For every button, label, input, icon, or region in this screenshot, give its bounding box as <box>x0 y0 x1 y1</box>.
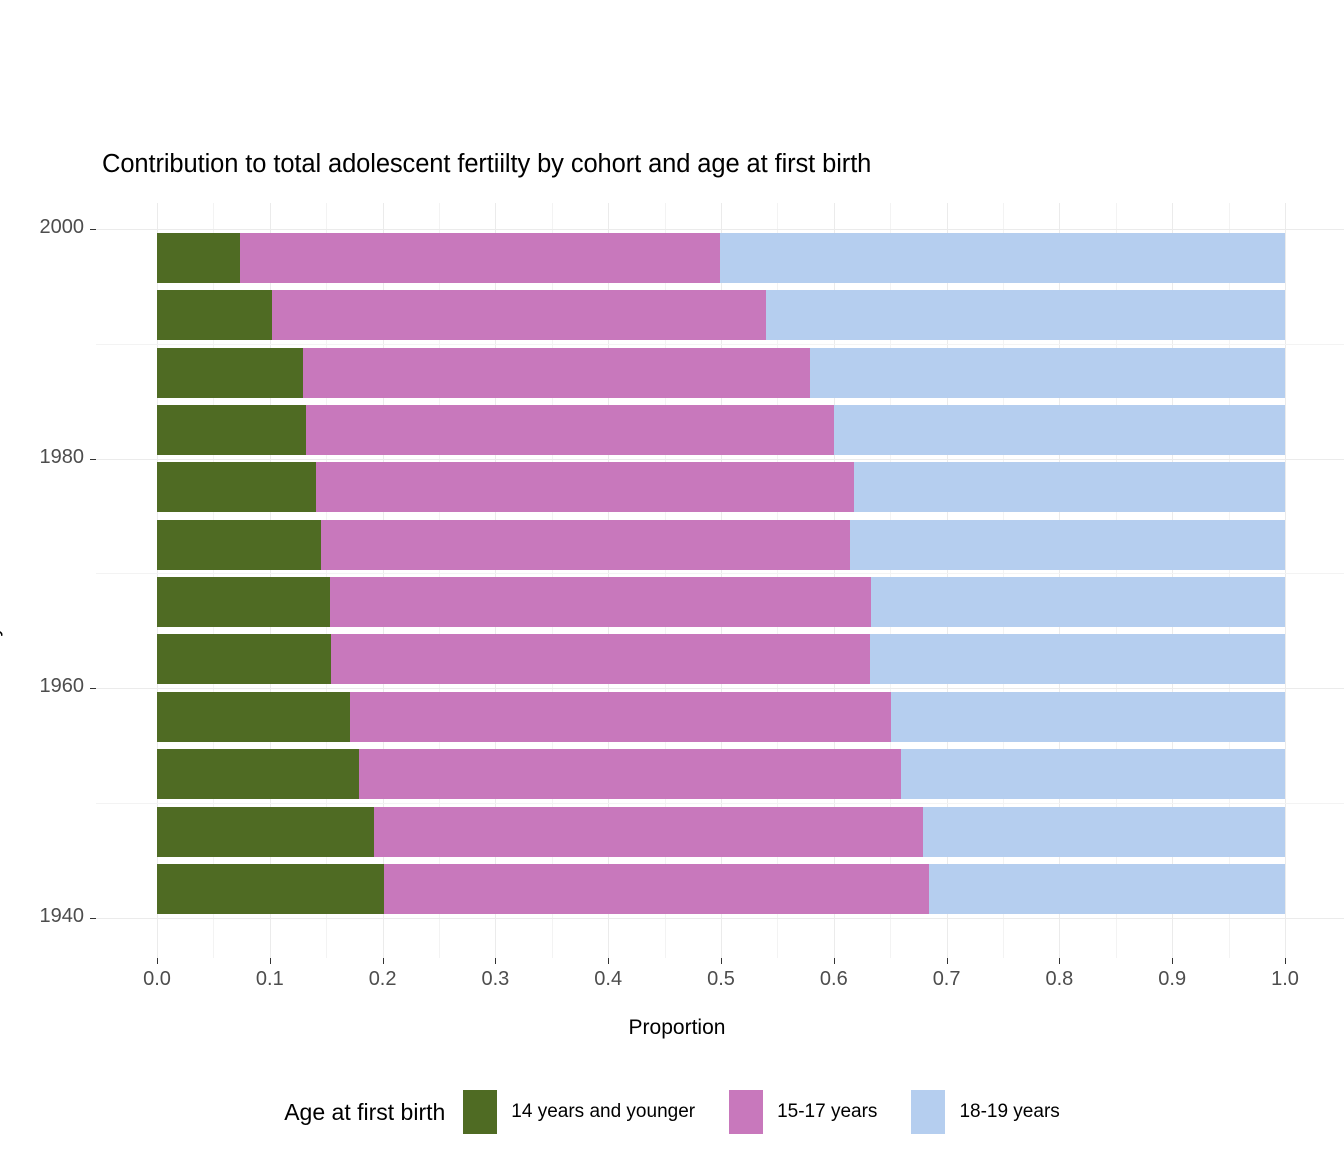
bar-segment <box>240 233 719 283</box>
bar-row <box>96 577 1344 627</box>
bar-segment <box>157 290 272 340</box>
bar-row <box>96 348 1344 398</box>
bar-row <box>96 692 1344 742</box>
bar-row <box>96 520 1344 570</box>
y-axis-tick-mark <box>90 688 96 689</box>
bar-segment <box>157 462 316 512</box>
legend-color-swatch-icon <box>463 1090 497 1134</box>
bar-segment <box>157 864 384 914</box>
x-axis-tick-mark <box>383 958 384 964</box>
legend-item-label: 14 years and younger <box>511 1101 695 1123</box>
bar-segment <box>157 749 359 799</box>
bar-segment <box>810 348 1285 398</box>
bar-segment <box>929 864 1285 914</box>
y-axis-tick-mark <box>90 459 96 460</box>
legend: Age at first birth 14 years and younger1… <box>0 1090 1344 1134</box>
bar-segment <box>157 807 374 857</box>
bar-segment <box>350 692 891 742</box>
x-axis-tick-mark <box>270 958 271 964</box>
bar-segment <box>330 577 871 627</box>
y-axis-tick-label: 1960 <box>0 675 84 698</box>
bar-segment <box>157 634 331 684</box>
bar-segment <box>359 749 902 799</box>
bar-segment <box>923 807 1285 857</box>
x-axis-tick-label: 1.0 <box>1255 968 1315 991</box>
bar-segment <box>272 290 766 340</box>
x-axis-title-text: Proportion <box>629 1016 726 1040</box>
bar-row <box>96 807 1344 857</box>
bar-segment <box>384 864 929 914</box>
y-axis-tick-label: 1980 <box>0 446 84 469</box>
legend-item[interactable]: 14 years and younger <box>463 1090 729 1134</box>
bar-segment <box>766 290 1285 340</box>
legend-item[interactable]: 15-17 years <box>729 1090 911 1134</box>
bar-segment <box>870 634 1285 684</box>
x-axis-tick-mark <box>608 958 609 964</box>
bar-segment <box>316 462 854 512</box>
legend-item-label: 15-17 years <box>777 1101 877 1123</box>
bar-row <box>96 405 1344 455</box>
plot-panel <box>96 203 1344 958</box>
x-axis-tick-mark <box>1285 958 1286 964</box>
x-axis-tick-mark <box>1059 958 1060 964</box>
x-axis-tick-label: 0.0 <box>127 968 187 991</box>
bar-segment <box>891 692 1285 742</box>
x-axis-tick-mark <box>834 958 835 964</box>
bar-segment <box>157 405 306 455</box>
x-axis-tick-label: 0.8 <box>1029 968 1089 991</box>
bar-segment <box>157 692 350 742</box>
bar-segment <box>850 520 1285 570</box>
bar-segment <box>854 462 1285 512</box>
x-axis-tick-mark <box>157 958 158 964</box>
x-axis-tick-mark <box>495 958 496 964</box>
y-axis-title: 5-year birth cohort <box>0 470 4 670</box>
gridline-horizontal-minor <box>96 573 1344 574</box>
bar-row <box>96 290 1344 340</box>
legend-color-swatch-icon <box>911 1090 945 1134</box>
bar-row <box>96 634 1344 684</box>
bar-segment <box>157 520 321 570</box>
legend-item[interactable]: 18-19 years <box>911 1090 1059 1134</box>
bar-segment <box>157 348 303 398</box>
bar-segment <box>374 807 923 857</box>
x-axis-tick-label: 0.3 <box>465 968 525 991</box>
x-axis-tick-label: 0.1 <box>240 968 300 991</box>
x-axis-tick-mark <box>947 958 948 964</box>
bar-row <box>96 233 1344 283</box>
bar-segment <box>303 348 811 398</box>
bar-segment <box>157 577 330 627</box>
bar-segment <box>321 520 850 570</box>
gridline-horizontal-major <box>96 229 1344 230</box>
bar-row <box>96 864 1344 914</box>
x-axis-tick-mark <box>1172 958 1173 964</box>
y-axis-tick-mark <box>90 229 96 230</box>
bar-row <box>96 749 1344 799</box>
legend-item-label: 18-19 years <box>959 1101 1059 1123</box>
bar-segment <box>834 405 1285 455</box>
gridline-horizontal-minor <box>96 344 1344 345</box>
x-axis-tick-label: 0.7 <box>917 968 977 991</box>
gridline-horizontal-major <box>96 688 1344 689</box>
x-axis-tick-label: 0.4 <box>578 968 638 991</box>
legend-items: 14 years and younger15-17 years18-19 yea… <box>463 1090 1059 1134</box>
y-axis-tick-mark <box>90 918 96 919</box>
gridline-horizontal-major <box>96 459 1344 460</box>
gridline-horizontal-major <box>96 918 1344 919</box>
chart-title: Contribution to total adolescent fertiil… <box>102 150 871 179</box>
legend-title: Age at first birth <box>284 1099 445 1126</box>
x-axis-tick-mark <box>721 958 722 964</box>
gridline-horizontal-minor <box>96 803 1344 804</box>
bar-segment <box>157 233 240 283</box>
x-axis-tick-label: 0.6 <box>804 968 864 991</box>
y-axis-tick-label: 1940 <box>0 905 84 928</box>
x-axis-tick-label: 0.2 <box>353 968 413 991</box>
bar-segment <box>871 577 1285 627</box>
legend-color-swatch-icon <box>729 1090 763 1134</box>
x-axis-tick-label: 0.5 <box>691 968 751 991</box>
bar-row <box>96 462 1344 512</box>
bar-segment <box>331 634 870 684</box>
x-axis-tick-label: 0.9 <box>1142 968 1202 991</box>
y-axis-tick-label: 2000 <box>0 216 84 239</box>
bar-segment <box>720 233 1285 283</box>
bar-segment <box>901 749 1285 799</box>
bar-segment <box>306 405 834 455</box>
x-axis-title: Proportion <box>0 1016 1344 1040</box>
chart-figure: Contribution to total adolescent fertiil… <box>0 0 1344 1152</box>
